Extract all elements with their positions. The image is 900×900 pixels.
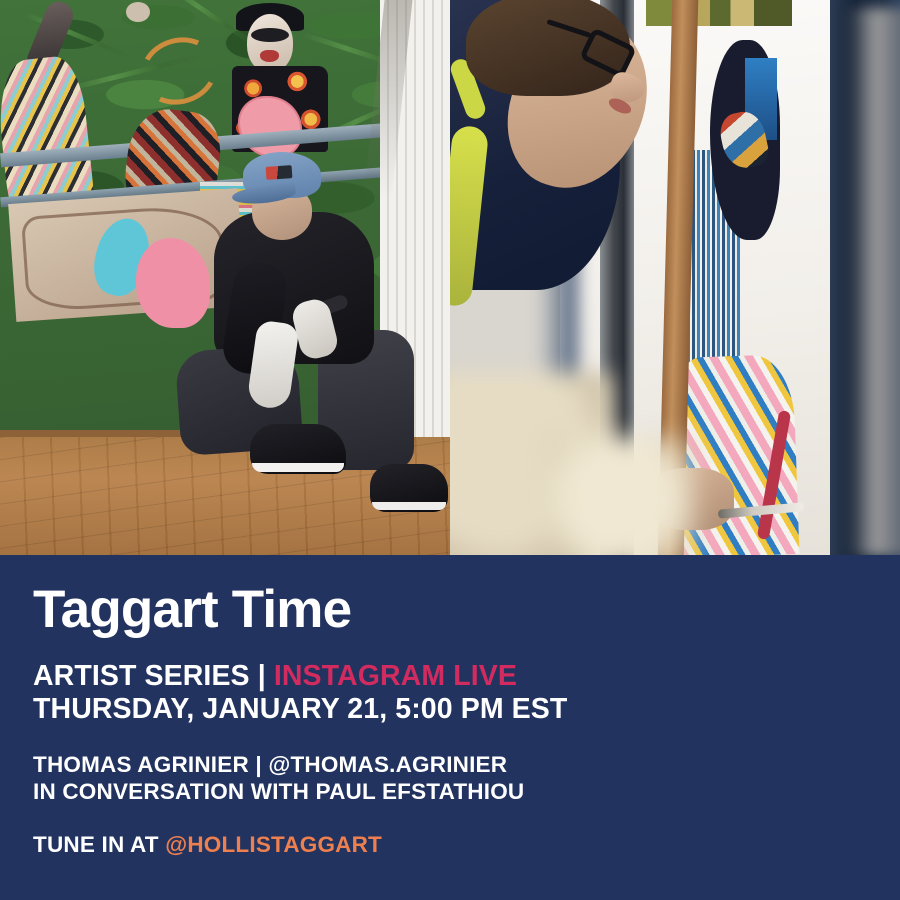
spacer-2 (33, 805, 643, 831)
gallery-handle[interactable]: @HOLLISTAGGART (165, 832, 382, 857)
artist-line: THOMAS AGRINIER | @THOMAS.AGRINIER (33, 751, 643, 778)
event-info-panel: Taggart Time ARTIST SERIES | INSTAGRAM L… (0, 555, 900, 900)
page-title: Taggart Time (33, 583, 643, 636)
painted-hand (126, 2, 150, 22)
blurred-right-edge (848, 8, 900, 555)
canvas-top-color-band (646, 0, 792, 26)
event-datetime: THURSDAY, JANUARY 21, 5:00 PM EST (33, 693, 643, 726)
cap-logo-patch (266, 165, 293, 180)
artist-painting-photo (450, 0, 900, 555)
event-text-block: Taggart Time ARTIST SERIES | INSTAGRAM L… (33, 583, 643, 858)
divider-pipe: | (258, 660, 266, 692)
sneaker-right (370, 464, 448, 512)
tune-in-prefix: TUNE IN AT (33, 832, 165, 857)
instagram-live-announcement-poster: Taggart Time ARTIST SERIES | INSTAGRAM L… (0, 0, 900, 900)
platform-label: INSTAGRAM LIVE (274, 660, 517, 692)
artist-name: THOMAS AGRINIER (33, 752, 249, 777)
photo-strip (0, 0, 900, 555)
event-headline-block: ARTIST SERIES | INSTAGRAM LIVE THURSDAY,… (33, 660, 643, 726)
spacer (33, 726, 643, 751)
label-divider (250, 660, 258, 692)
artist-crouching-photo (0, 0, 450, 555)
conversation-partner-line: IN CONVERSATION WITH PAUL EFSTATHIOU (33, 778, 643, 805)
painted-figure-face (247, 14, 293, 72)
sneaker-left (250, 424, 346, 474)
tune-in-line: TUNE IN AT @HOLLISTAGGART (33, 831, 643, 858)
participants-block: THOMAS AGRINIER | @THOMAS.AGRINIER IN CO… (33, 751, 643, 805)
label-divider-2 (266, 660, 274, 692)
series-and-platform-line: ARTIST SERIES | INSTAGRAM LIVE (33, 660, 643, 693)
artist-handle[interactable]: @THOMAS.AGRINIER (268, 752, 507, 777)
blurred-foreground-blob-2 (546, 436, 696, 555)
series-label: ARTIST SERIES (33, 660, 250, 692)
